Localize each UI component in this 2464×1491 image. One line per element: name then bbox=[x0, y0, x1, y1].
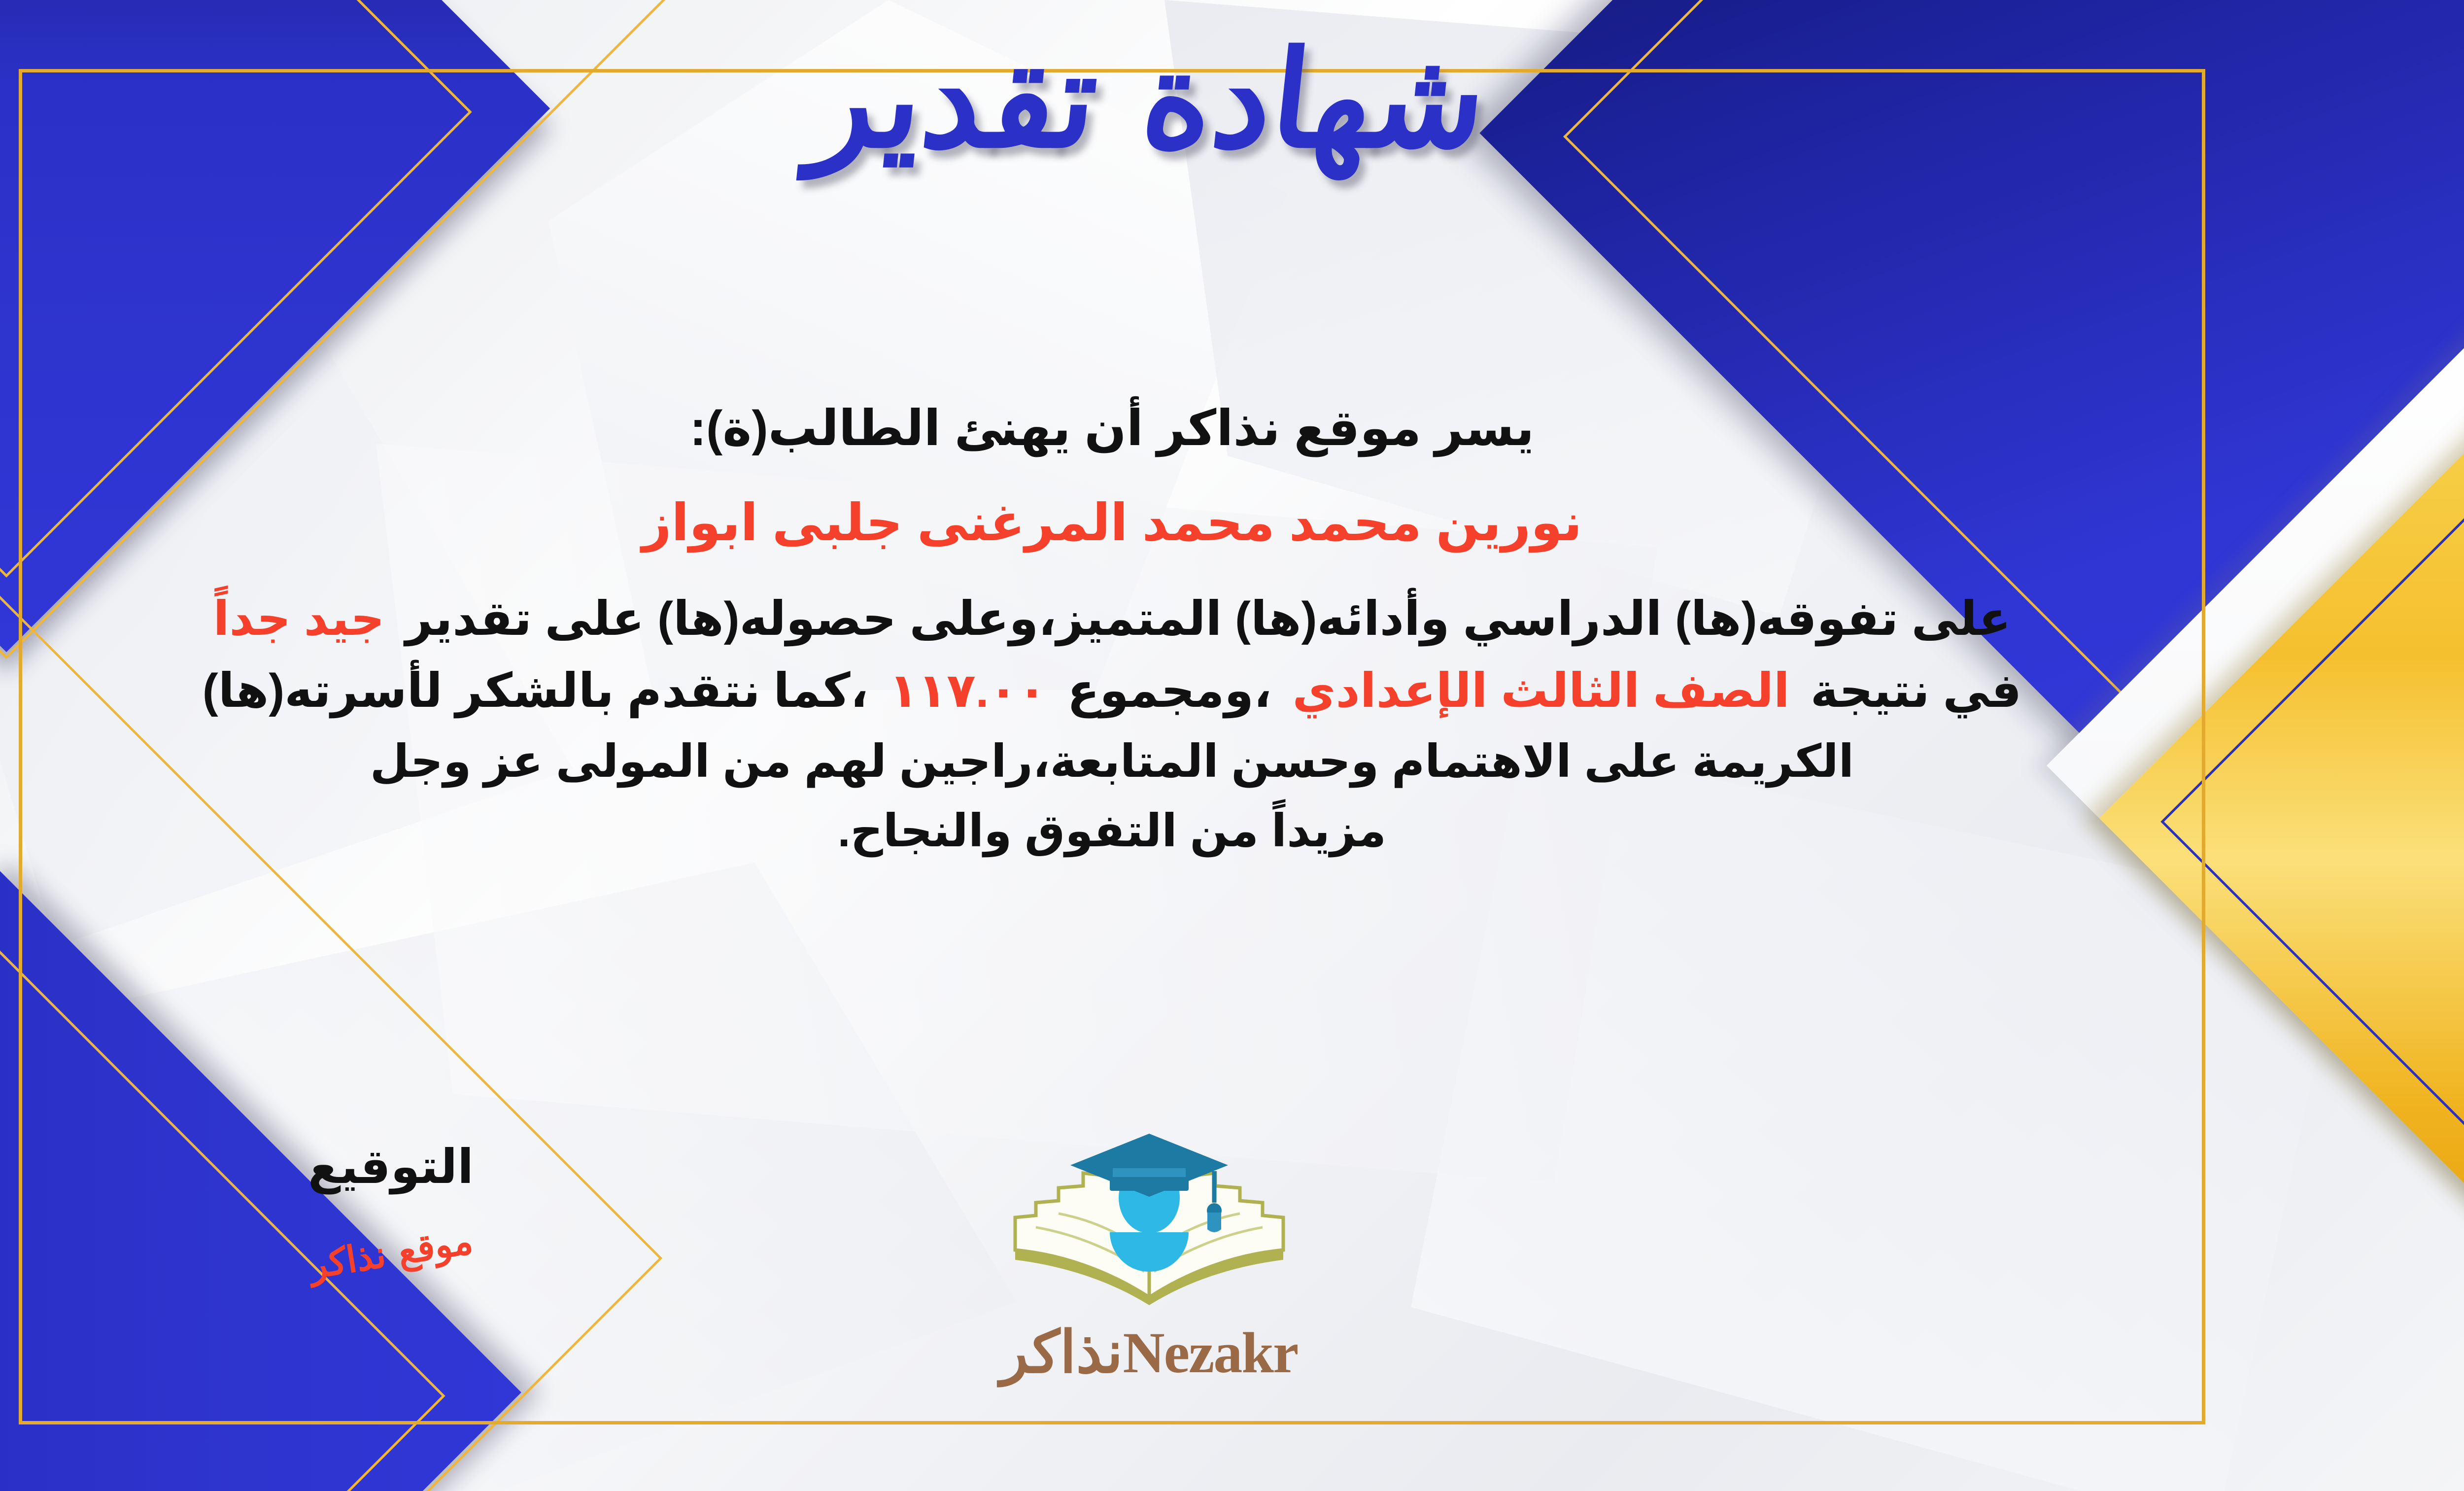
certificate-document: شهادة تقدير يسر موقع نذاكر أن يهنئ الطال… bbox=[0, 0, 2464, 1491]
closing-line: مزيداً من التفوق والنجاح. bbox=[16, 800, 2208, 863]
achievement-line: على تفوقه(ها) الدراسي وأدائه(ها) المتميز… bbox=[16, 587, 2208, 652]
signature-mark: موقع نذاكر bbox=[306, 1219, 476, 1287]
logo-wordmark: Nezakrنذاكر bbox=[927, 1324, 1371, 1382]
certificate-content: شهادة تقدير يسر موقع نذاكر أن يهنئ الطال… bbox=[0, 0, 2464, 1491]
thanks-text: ،كما نتقدم بالشكر لأسرته(ها) bbox=[203, 664, 868, 717]
site-logo: Nezakrنذاكر bbox=[927, 1124, 1371, 1382]
logo-arabic-text: نذاكر bbox=[1000, 1320, 1123, 1385]
total-score-value: ١١٧.٠٠ bbox=[889, 664, 1047, 717]
result-label: في نتيجة bbox=[1811, 664, 2021, 717]
signature-label: التوقيع bbox=[233, 1144, 548, 1191]
class-and-score-line: في نتيجةالصف الثالث الإعدادي،ومجموع١١٧.٠… bbox=[16, 659, 2208, 724]
logo-latin-text: Nezakr bbox=[1123, 1320, 1298, 1385]
logo-graphic bbox=[962, 1124, 1336, 1321]
student-name: نورين محمد محمد المرغنى جلبى ابواز bbox=[16, 488, 2208, 559]
certificate-body: يسر موقع نذاكر أن يهنئ الطالب(ة): نورين … bbox=[16, 394, 2208, 869]
certificate-title: شهادة تقدير bbox=[0, 30, 2464, 170]
achievement-text: على تفوقه(ها) الدراسي وأدائه(ها) المتميز… bbox=[406, 592, 2011, 645]
class-value: الصف الثالث الإعدادي bbox=[1293, 664, 1790, 717]
greeting-line: يسر موقع نذاكر أن يهنئ الطالب(ة): bbox=[16, 394, 2208, 462]
signature-block: التوقيع موقع نذاكر bbox=[233, 1144, 548, 1275]
total-label: ،ومجموع bbox=[1067, 664, 1272, 717]
grade-value: جيد جداً bbox=[213, 592, 384, 645]
family-thanks-line: الكريمة على الاهتمام وحسن المتابعة،راجين… bbox=[16, 730, 2208, 793]
